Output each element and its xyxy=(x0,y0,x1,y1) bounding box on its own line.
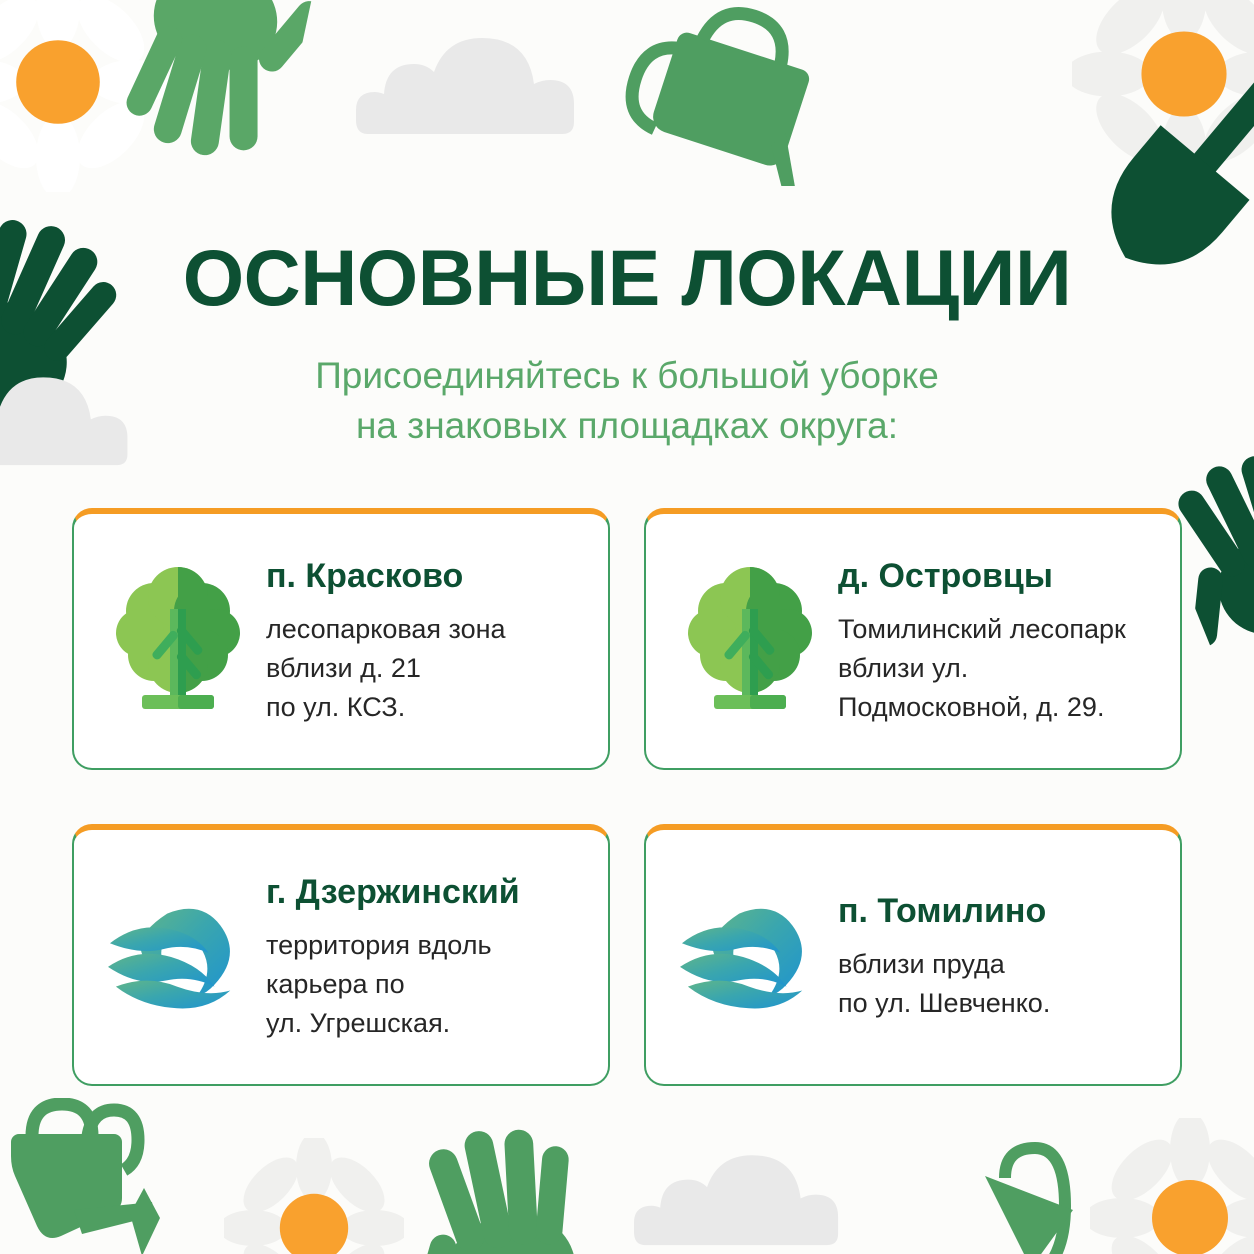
subtitle-line-2: на знаковых площадках округа: xyxy=(0,401,1254,451)
card-desc-line: лесопарковая зона xyxy=(266,610,586,649)
card-title: д. Островцы xyxy=(838,556,1158,596)
card-desc-line: Подмосковной, д. 29. xyxy=(838,688,1158,727)
card-text-block: г. Дзержинский территория вдоль карьера … xyxy=(266,872,586,1043)
card-desc-line: территория вдоль xyxy=(266,926,586,965)
card-desc-line: вблизи д. 21 xyxy=(266,649,586,688)
tree-icon xyxy=(108,566,248,716)
location-cards-grid: п. Красково лесопарковая зона вблизи д. … xyxy=(72,508,1182,1086)
card-desc-line: карьера по xyxy=(266,965,586,1004)
poster-canvas: ОСНОВНЫЕ ЛОКАЦИИ Присоединяйтесь к больш… xyxy=(0,0,1254,1254)
card-desc-line: по ул. КСЗ. xyxy=(266,688,586,727)
card-description: Томилинский лесопарк вблизи ул. Подмоско… xyxy=(838,610,1158,727)
subtitle-line-1: Присоединяйтесь к большой уборке xyxy=(0,351,1254,401)
location-card[interactable]: п. Томилино вблизи пруда по ул. Шевченко… xyxy=(644,824,1182,1086)
page-subtitle: Присоединяйтесь к большой уборке на знак… xyxy=(0,351,1254,451)
wave-icon xyxy=(108,897,248,1017)
wave-icon xyxy=(680,897,820,1017)
card-title: г. Дзержинский xyxy=(266,872,586,912)
location-card[interactable]: п. Красково лесопарковая зона вблизи д. … xyxy=(72,508,610,770)
card-text-block: д. Островцы Томилинский лесопарк вблизи … xyxy=(838,556,1158,727)
card-title: п. Красково xyxy=(266,556,586,596)
card-text-block: п. Красково лесопарковая зона вблизи д. … xyxy=(266,556,586,727)
card-description: вблизи пруда по ул. Шевченко. xyxy=(838,945,1158,1023)
card-description: территория вдоль карьера по ул. Угрешска… xyxy=(266,926,586,1043)
card-desc-line: вблизи пруда xyxy=(838,945,1158,984)
card-desc-line: по ул. Шевченко. xyxy=(838,984,1158,1023)
page-title: ОСНОВНЫЕ ЛОКАЦИИ xyxy=(0,236,1254,320)
card-title: п. Томилино xyxy=(838,891,1158,931)
location-card[interactable]: д. Островцы Томилинский лесопарк вблизи … xyxy=(644,508,1182,770)
card-desc-line: вблизи ул. xyxy=(838,649,1158,688)
location-card[interactable]: г. Дзержинский территория вдоль карьера … xyxy=(72,824,610,1086)
card-description: лесопарковая зона вблизи д. 21 по ул. КС… xyxy=(266,610,586,727)
card-desc-line: ул. Угрешская. xyxy=(266,1004,586,1043)
poster-content: ОСНОВНЫЕ ЛОКАЦИИ Присоединяйтесь к больш… xyxy=(0,0,1254,1254)
tree-icon xyxy=(680,566,820,716)
card-desc-line: Томилинский лесопарк xyxy=(838,610,1158,649)
card-text-block: п. Томилино вблизи пруда по ул. Шевченко… xyxy=(838,891,1158,1023)
